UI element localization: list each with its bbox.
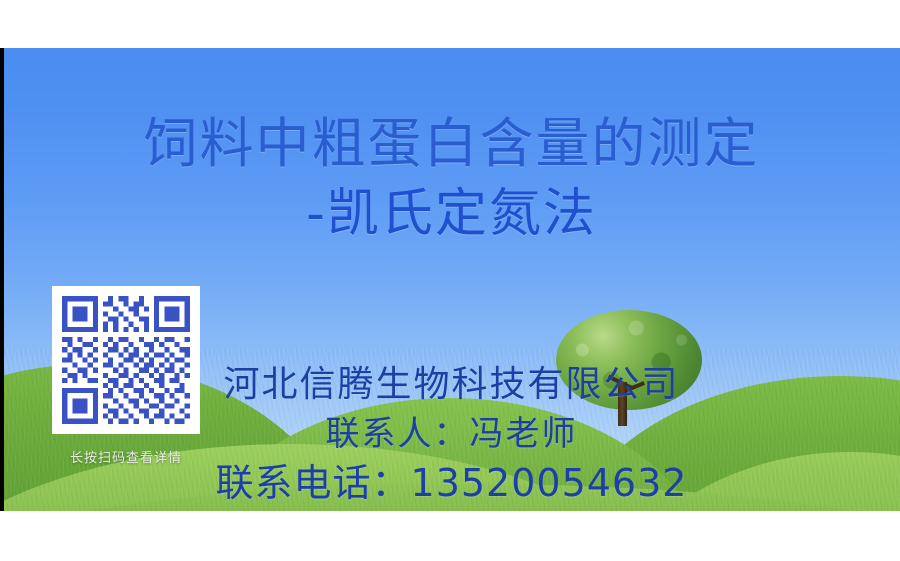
video-title-line-2: -凯氏定氮法 xyxy=(3,180,900,248)
title-block: 饲料中粗蛋白含量的测定 -凯氏定氮法 xyxy=(3,108,900,248)
qr-code-card[interactable] xyxy=(52,286,200,434)
video-player-stage[interactable]: 饲料中粗蛋白含量的测定 -凯氏定氮法 xyxy=(0,48,900,511)
page-bottom-margin xyxy=(0,511,900,561)
qr-code-caption: 长按扫码查看详情 xyxy=(52,450,200,468)
page-root: 饲料中粗蛋白含量的测定 -凯氏定氮法 xyxy=(0,0,900,561)
qr-code-icon[interactable] xyxy=(52,286,200,434)
page-top-margin xyxy=(0,0,900,48)
qr-code-panel[interactable]: 长按扫码查看详情 xyxy=(52,286,200,468)
video-title-line-1: 饲料中粗蛋白含量的测定 xyxy=(3,108,900,180)
letterbox-left-bar xyxy=(0,48,4,511)
